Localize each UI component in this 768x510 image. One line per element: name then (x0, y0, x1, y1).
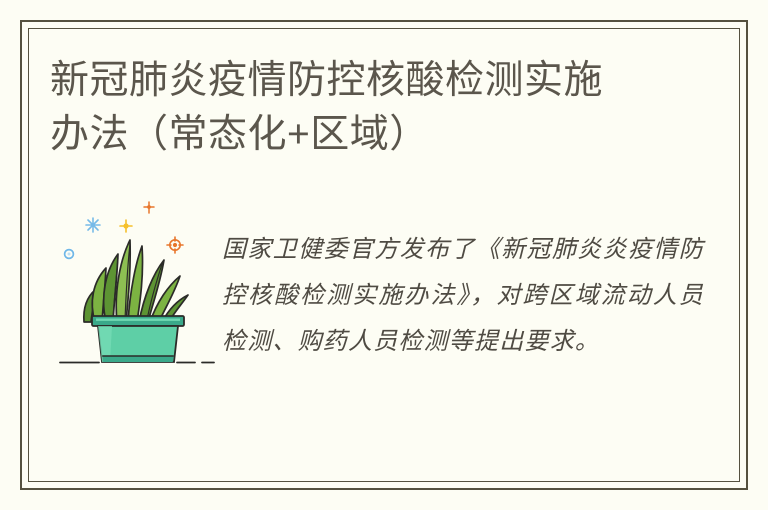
sparkle-cross-orange (144, 202, 154, 213)
sparkle-ring-blue (65, 249, 74, 258)
potted-plant-illustration (54, 196, 222, 376)
article-card: 新冠肺炎疫情防控核酸检测实施 办法（常态化+区域） (0, 0, 768, 510)
sparkle-snowflake-blue (86, 218, 100, 232)
page-title: 新冠肺炎疫情防控核酸检测实施 办法（常态化+区域） (50, 54, 670, 162)
article-paragraph: 国家卫健委官方发布了《新冠肺炎炎疫情防控核酸检测实施办法》，对跨区域流动人员检测… (222, 220, 710, 364)
plant-pot (92, 316, 184, 362)
sparkle-flower-orange (167, 237, 183, 253)
card-content: 新冠肺炎疫情防控核酸检测实施 办法（常态化+区域） (28, 28, 740, 482)
card-body: 国家卫健委官方发布了《新冠肺炎炎疫情防控核酸检测实施办法》，对跨区域流动人员检测… (50, 196, 710, 388)
plant-leaves (84, 240, 188, 322)
sparkle-dot-yellow (120, 220, 132, 232)
